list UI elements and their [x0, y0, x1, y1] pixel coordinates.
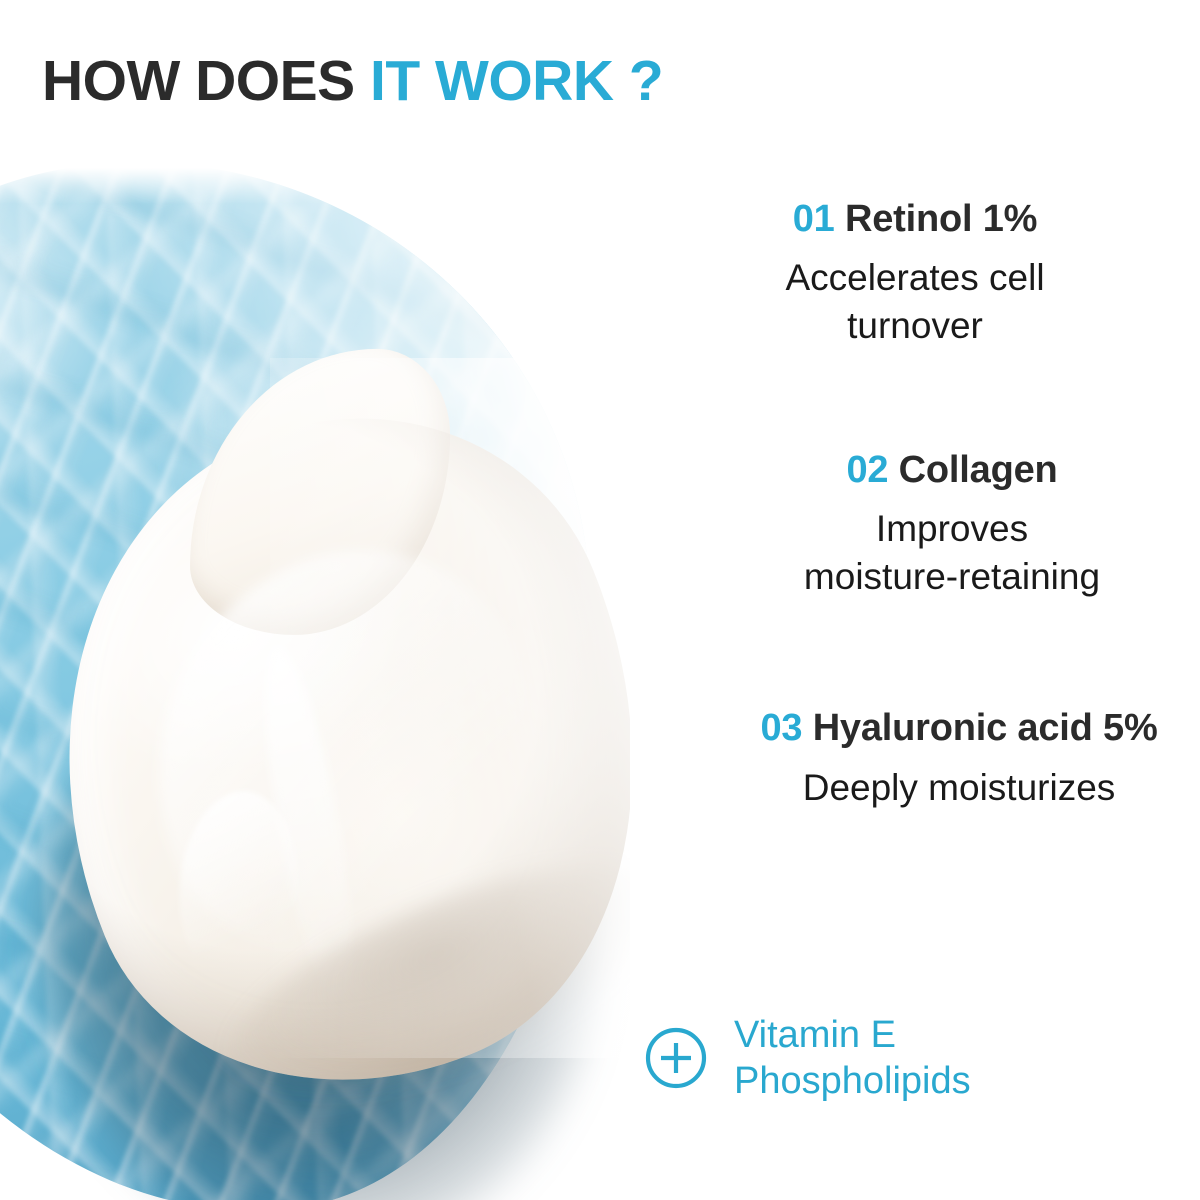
- ingredient-heading: 02 Collagen: [704, 447, 1200, 493]
- bonus-ingredient-row: Vitamin E Phospholipids: [644, 1012, 971, 1105]
- ingredient-item-retinol: 01 Retinol 1% Accelerates cell turnover: [630, 196, 1200, 351]
- ingredient-item-hyaluronic-acid: 03 Hyaluronic acid 5% Deeply moisturizes: [718, 699, 1200, 812]
- photo-top-fade: [0, 168, 630, 204]
- product-texture-photo: [0, 168, 630, 1200]
- ingredient-number: 03: [760, 707, 802, 749]
- ingredient-description: Deeply moisturizes: [718, 764, 1200, 812]
- ingredient-name: Retinol 1%: [845, 198, 1037, 240]
- plus-circle-icon: [644, 1026, 708, 1090]
- ingredient-list: 01 Retinol 1% Accelerates cell turnover …: [600, 196, 1200, 812]
- page-title-lead: HOW DOES: [42, 49, 355, 113]
- page-title: HOW DOES IT WORK ?: [42, 52, 663, 112]
- ingredient-item-collagen: 02 Collagen Improves moisture-retaining: [704, 447, 1200, 602]
- ingredient-heading: 01 Retinol 1%: [630, 196, 1200, 242]
- ingredient-number: 01: [793, 198, 835, 240]
- page-title-accent: IT WORK ?: [370, 49, 663, 113]
- bonus-ingredient-label: Vitamin E Phospholipids: [734, 1012, 971, 1105]
- ingredient-name: Collagen: [899, 449, 1058, 491]
- ingredient-heading: 03 Hyaluronic acid 5%: [718, 699, 1200, 758]
- ingredient-number: 02: [846, 449, 888, 491]
- ingredient-description: Improves moisture-retaining: [704, 505, 1200, 601]
- ingredient-description: Accelerates cell turnover: [630, 254, 1200, 350]
- ingredient-name: Hyaluronic acid 5%: [813, 707, 1158, 749]
